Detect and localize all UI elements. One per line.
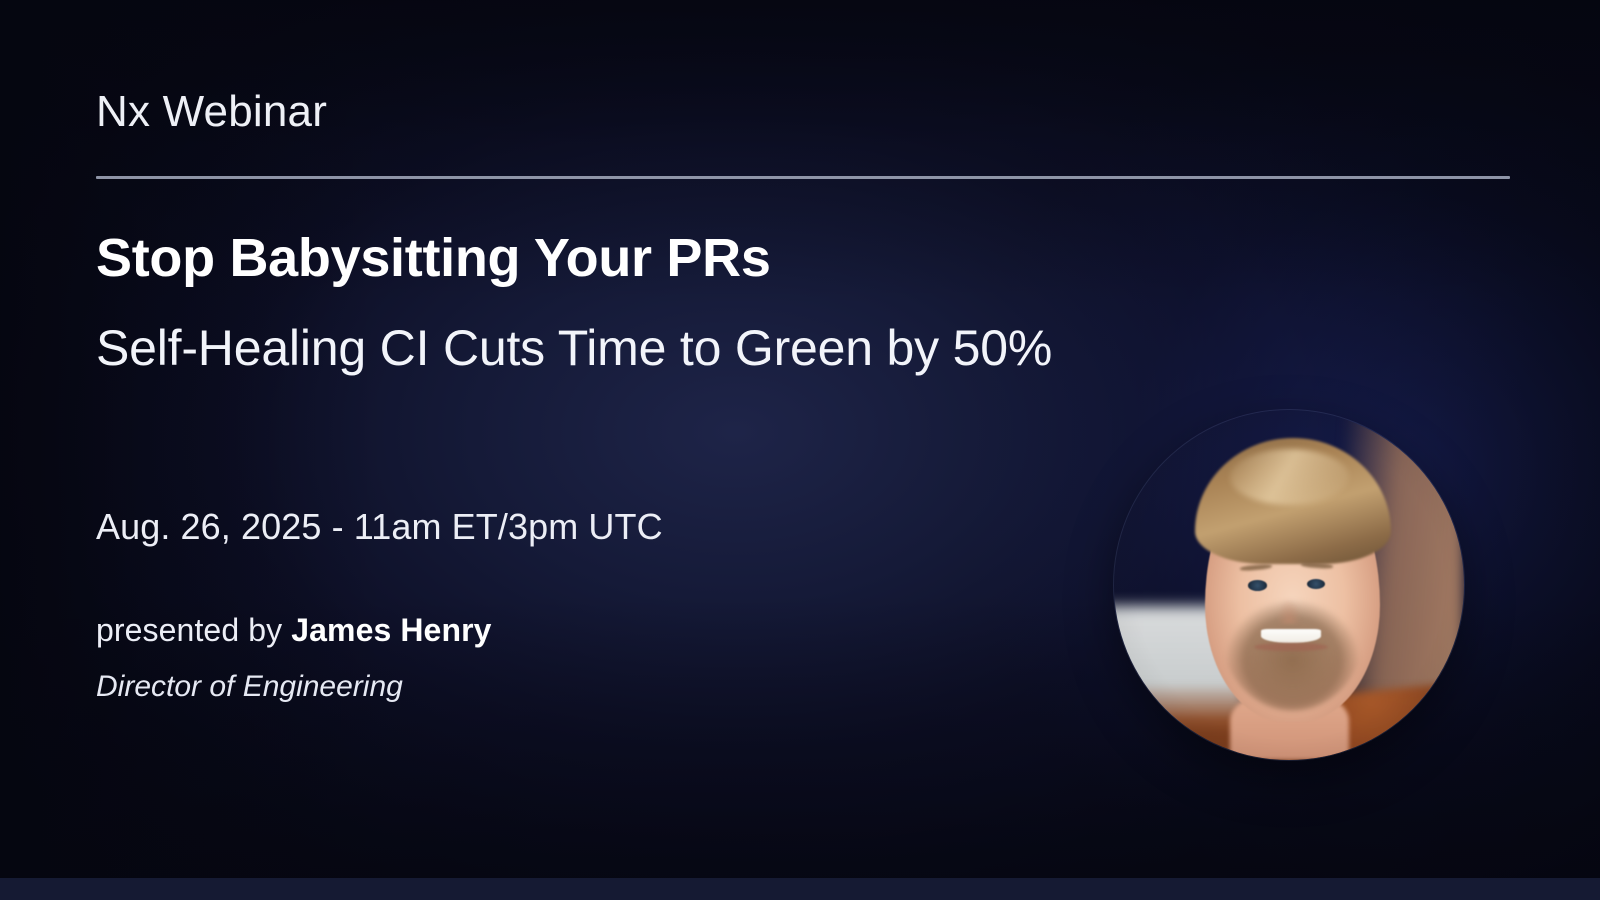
webinar-eyebrow: Nx Webinar bbox=[96, 88, 327, 136]
speaker-avatar bbox=[1114, 410, 1464, 760]
webinar-datetime: Aug. 26, 2025 - 11am ET/3pm UTC bbox=[96, 505, 663, 548]
content-block: Nx Webinar Stop Babysitting Your PRs Sel… bbox=[96, 0, 1106, 900]
webinar-title: Stop Babysitting Your PRs bbox=[96, 228, 771, 288]
presenter-prefix: presented by bbox=[96, 612, 291, 648]
webinar-subtitle: Self-Healing CI Cuts Time to Green by 50… bbox=[96, 313, 1096, 384]
avatar-photo bbox=[1114, 410, 1464, 760]
header-divider bbox=[96, 176, 1510, 179]
avatar-edge-shade bbox=[1114, 410, 1464, 760]
presenter-line: presented by James Henry bbox=[96, 610, 492, 650]
presenter-role: Director of Engineering bbox=[96, 668, 403, 706]
footer-strip bbox=[0, 878, 1600, 900]
presenter-name: James Henry bbox=[291, 612, 491, 648]
webinar-promo-canvas: Nx Webinar Stop Babysitting Your PRs Sel… bbox=[0, 0, 1600, 900]
